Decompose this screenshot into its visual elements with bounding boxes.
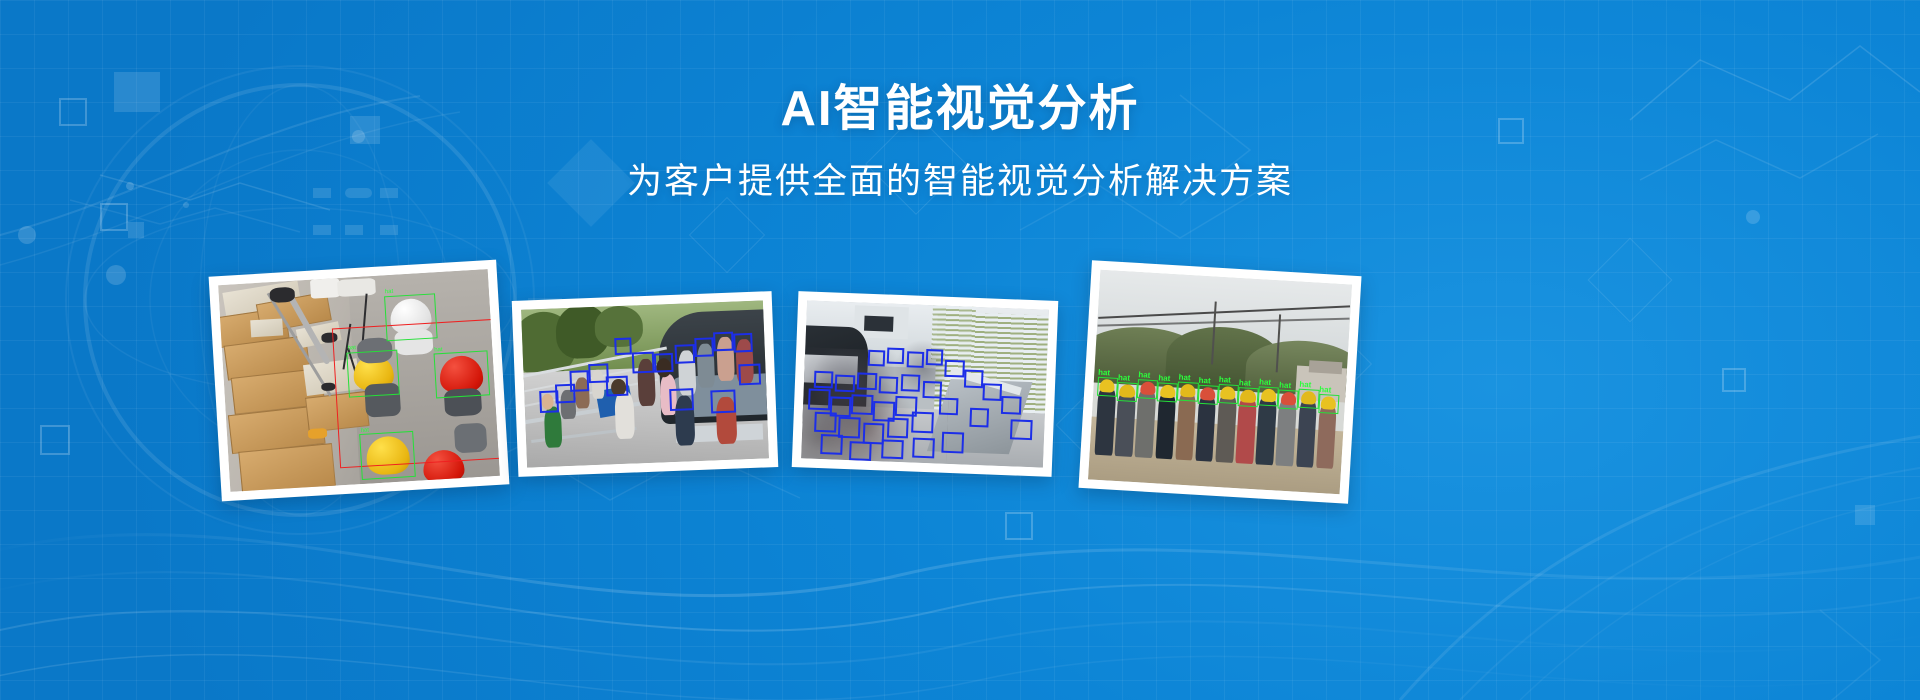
banner-subtitle: 为客户提供全面的智能视觉分析解决方案 <box>0 161 1920 203</box>
gallery-item-station-crowd[interactable] <box>792 291 1059 477</box>
banner-headings: AI智能视觉分析 为客户提供全面的智能视觉分析解决方案 <box>0 82 1920 203</box>
banner-title: AI智能视觉分析 <box>0 82 1920 137</box>
ai-vision-banner: AI智能视觉分析 为客户提供全面的智能视觉分析解决方案 <box>0 0 1920 700</box>
scene-pedestrian-bridge <box>521 300 769 467</box>
gallery-item-helmet-warehouse[interactable]: hat hat hat hat <box>209 260 510 502</box>
scene-warehouse: hat hat hat hat <box>218 269 500 492</box>
scene-station-platform <box>801 300 1049 467</box>
gallery-item-bridge-crowd[interactable] <box>512 291 779 477</box>
photo-bridge-crowd <box>521 300 769 467</box>
photo-outdoor-hats: hat hat hat hat hat hat hat hat <box>1088 270 1352 495</box>
gallery-item-outdoor-hats[interactable]: hat hat hat hat hat hat hat hat <box>1078 260 1361 504</box>
photo-helmet-warehouse: hat hat hat hat <box>218 269 500 492</box>
photo-station-crowd <box>801 300 1049 467</box>
scene-outdoor-group: hat hat hat hat hat hat hat hat <box>1088 270 1352 495</box>
